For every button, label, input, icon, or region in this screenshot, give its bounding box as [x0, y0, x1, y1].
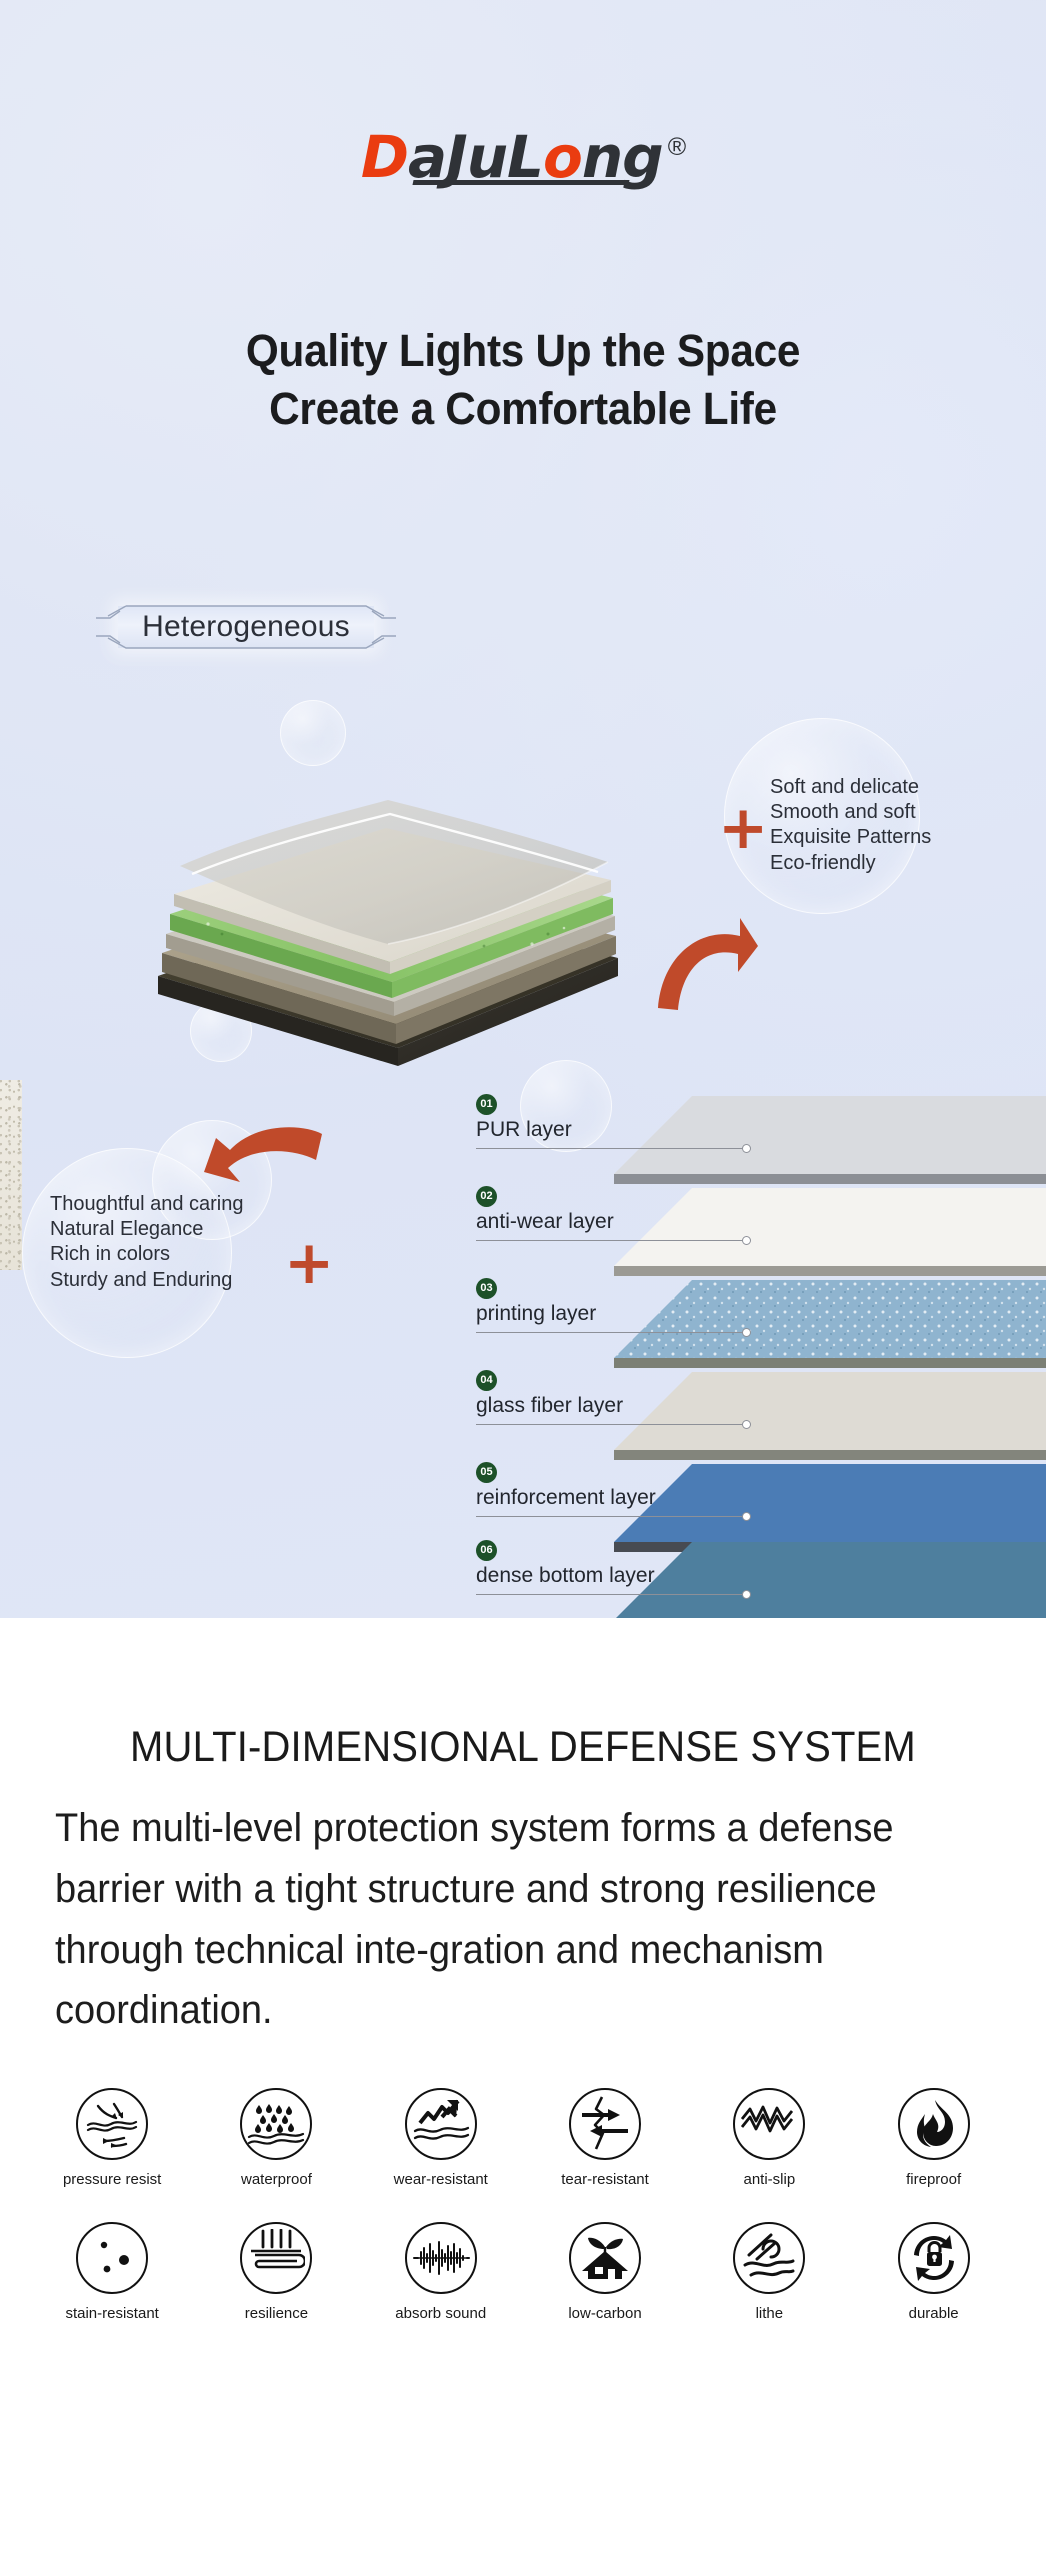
layer-row: 04 glass fiber layer: [476, 1370, 623, 1418]
layer-slab-03: [614, 1280, 1046, 1376]
callout-tr-line-2: Smooth and soft: [770, 800, 931, 825]
layer-slab-06: [614, 1542, 1046, 1618]
layer-number-badge: 02: [476, 1186, 497, 1207]
fireproof-icon: [898, 2088, 970, 2160]
resilience-icon: [240, 2222, 312, 2294]
feature-label: tear-resistant: [561, 2171, 649, 2188]
feature-item: fireproof: [851, 2088, 1015, 2188]
layer-name: printing layer: [476, 1302, 596, 1326]
heterogeneous-ribbon: Heterogeneous: [96, 598, 396, 656]
layer-name: PUR layer: [476, 1118, 572, 1142]
feature-label: anti-slip: [743, 2171, 795, 2188]
headline-line-1: Quality Lights Up the Space: [31, 322, 1014, 380]
layer-name: anti-wear layer: [476, 1210, 614, 1234]
layer-row: 05 reinforcement layer: [476, 1462, 656, 1510]
arrow-right-icon: [648, 912, 760, 1018]
pressure-resist-icon: [76, 2088, 148, 2160]
layer-leader-line: [476, 1516, 742, 1517]
feature-item: waterproof: [194, 2088, 358, 2188]
layer-leader-dot: [742, 1590, 751, 1599]
feature-item: pressure resist: [30, 2088, 194, 2188]
callout-top-right: Soft and delicate Smooth and soft Exquis…: [770, 775, 931, 876]
feature-item: wear-resistant: [359, 2088, 523, 2188]
layer-leader-line: [476, 1148, 742, 1149]
layer-slab-01: [614, 1096, 1046, 1192]
feature-label: durable: [909, 2305, 959, 2322]
headline-line-2: Create a Comfortable Life: [31, 380, 1014, 438]
layer-number-badge: 05: [476, 1462, 497, 1483]
wear-resistant-icon: [405, 2088, 477, 2160]
layer-row: 03 printing layer: [476, 1278, 596, 1326]
layer-leader-line: [476, 1240, 742, 1241]
layer-leader-dot: [742, 1328, 751, 1337]
layer-row: 06 dense bottom layer: [476, 1540, 655, 1588]
defense-system-section: MULTI-DIMENSIONAL DEFENSE SYSTEM The mul…: [0, 1618, 1046, 2560]
layer-row: 01 PUR layer: [476, 1094, 572, 1142]
layer-leader-dot: [742, 1420, 751, 1429]
anti-slip-icon: [733, 2088, 805, 2160]
layer-leader-line: [476, 1332, 742, 1333]
low-carbon-icon: [569, 2222, 641, 2294]
feature-item: tear-resistant: [523, 2088, 687, 2188]
logo-wordmark: DaJuLong®: [361, 128, 685, 186]
brand-logo: DaJuLong®: [0, 128, 1046, 186]
layer-name: dense bottom layer: [476, 1564, 655, 1588]
lithe-icon: [733, 2222, 805, 2294]
layer-slab-04: [614, 1372, 1046, 1468]
feature-item: durable: [851, 2222, 1015, 2322]
layer-leader-dot: [742, 1512, 751, 1521]
hero-section: DaJuLong® Quality Lights Up the Space Cr…: [0, 0, 1046, 1618]
feature-item: low-carbon: [523, 2222, 687, 2322]
section-body-text: The multi-level protection system forms …: [55, 1798, 948, 2041]
feature-item: lithe: [687, 2222, 851, 2322]
layer-number-badge: 04: [476, 1370, 497, 1391]
logo-letter-d: D: [361, 123, 408, 191]
waterproof-icon: [240, 2088, 312, 2160]
feature-label: stain-resistant: [65, 2305, 158, 2322]
layer-name: reinforcement layer: [476, 1486, 656, 1510]
feature-label: resilience: [245, 2305, 308, 2322]
feature-label: absorb sound: [395, 2305, 486, 2322]
layer-diagram: 01 PUR layer 02 anti-wear layer 03 print…: [0, 1090, 1046, 1618]
ribbon-label: Heterogeneous: [96, 598, 396, 656]
logo-underline: [412, 180, 629, 185]
feature-label: pressure resist: [63, 2171, 161, 2188]
callout-tr-line-3: Exquisite Patterns: [770, 825, 931, 850]
callout-tr-line-4: Eco-friendly: [770, 851, 931, 876]
layer-number-badge: 06: [476, 1540, 497, 1561]
exploded-floor-illustration: [88, 748, 648, 1098]
layer-leader-dot: [742, 1144, 751, 1153]
stain-resistant-icon: [76, 2222, 148, 2294]
layer-name: glass fiber layer: [476, 1394, 623, 1418]
feature-item: stain-resistant: [30, 2222, 194, 2322]
absorb-sound-icon: [405, 2222, 477, 2294]
layer-leader-line: [476, 1594, 742, 1595]
section-title: MULTI-DIMENSIONAL DEFENSE SYSTEM: [37, 1723, 1010, 1772]
layer-number-badge: 01: [476, 1094, 497, 1115]
layer-leader-line: [476, 1424, 742, 1425]
registered-trademark-icon: ®: [668, 133, 685, 161]
durable-icon: [898, 2222, 970, 2294]
feature-icon-grid: pressure resist: [30, 2088, 1016, 2356]
hero-headline: Quality Lights Up the Space Create a Com…: [31, 322, 1014, 437]
layer-slab-02: [614, 1188, 1046, 1284]
feature-item: resilience: [194, 2222, 358, 2322]
callout-tr-line-1: Soft and delicate: [770, 775, 931, 800]
tear-resistant-icon: [569, 2088, 641, 2160]
layer-row: 02 anti-wear layer: [476, 1186, 614, 1234]
feature-item: anti-slip: [687, 2088, 851, 2188]
feature-label: low-carbon: [568, 2305, 641, 2322]
feature-label: fireproof: [906, 2171, 961, 2188]
plus-icon-top-right: +: [718, 798, 768, 858]
layer-leader-dot: [742, 1236, 751, 1245]
feature-label: lithe: [756, 2305, 784, 2322]
feature-label: waterproof: [241, 2171, 312, 2188]
layer-number-badge: 03: [476, 1278, 497, 1299]
feature-label: wear-resistant: [394, 2171, 488, 2188]
feature-item: absorb sound: [359, 2222, 523, 2322]
